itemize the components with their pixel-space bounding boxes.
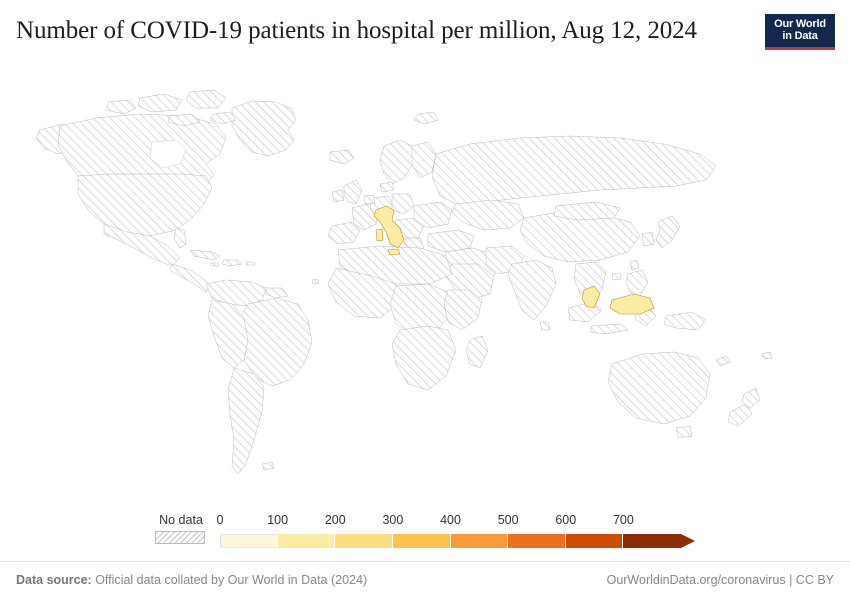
country-uk	[344, 180, 362, 204]
legend-band-0[interactable]	[220, 534, 278, 548]
data-source-text: Official data collated by Our World in D…	[92, 573, 367, 587]
country-spain-portugal	[328, 222, 360, 244]
legend-bar[interactable]	[220, 534, 695, 550]
island-svalbard	[414, 112, 438, 124]
arctic-island-1	[138, 94, 182, 112]
legend-tick-300: 300	[382, 513, 403, 528]
country-australia	[608, 352, 710, 424]
country-norway-sweden	[380, 140, 414, 184]
attribution-link[interactable]: OurWorldinData.org/coronavirus | CC BY	[607, 573, 834, 587]
country-tasmania	[676, 426, 692, 438]
island-taiwan	[630, 260, 639, 270]
arctic-island-3	[106, 100, 136, 114]
country-india	[508, 260, 556, 320]
data-source-label: Data source:	[16, 573, 92, 587]
legend-tick-0: 0	[217, 513, 224, 528]
country-mongolia	[554, 202, 620, 220]
country-italy-sicily	[388, 249, 400, 255]
legend-arrow-icon	[681, 534, 695, 548]
country-new-zealand-south	[728, 404, 752, 426]
country-central-asia	[452, 200, 524, 230]
country-japan	[656, 216, 680, 248]
country-east-africa	[444, 290, 482, 330]
legend-band-3[interactable]	[393, 534, 451, 548]
arctic-island-2	[186, 90, 226, 108]
country-central-africa	[390, 284, 452, 334]
island-hainan	[612, 273, 621, 280]
legend-band-4[interactable]	[451, 534, 509, 548]
country-southern-africa	[392, 326, 456, 390]
legend-color-scale[interactable]: 0100200300400500600700	[220, 513, 695, 553]
map-legend: No data 0100200300400500600700	[0, 505, 850, 561]
country-russia	[432, 136, 716, 204]
legend-band-7[interactable]	[623, 534, 681, 548]
country-greenland	[232, 101, 296, 156]
country-denmark	[380, 182, 394, 192]
country-central-america	[170, 264, 210, 292]
legend-band-1[interactable]	[278, 534, 336, 548]
country-philippines	[626, 270, 648, 296]
owid-logo[interactable]: Our World in Data	[765, 14, 835, 50]
legend-tick-700: 700	[613, 513, 634, 528]
island-new-caledonia	[716, 356, 730, 366]
country-poland	[392, 194, 414, 214]
map-countries-no-data	[36, 90, 772, 474]
island-fiji	[762, 352, 772, 359]
country-papua-new-guinea	[664, 312, 706, 330]
owid-logo-line-1: Our World	[774, 18, 826, 30]
page-title: Number of COVID-19 patients in hospital …	[16, 16, 736, 46]
country-italy-sardinia	[376, 229, 383, 241]
legend-tick-labels: 0100200300400500600700	[220, 513, 695, 529]
country-peru-bolivia	[208, 300, 248, 368]
chart-footer: Data source: Official data collated by O…	[0, 561, 850, 601]
country-benelux	[364, 195, 375, 204]
legend-band-2[interactable]	[335, 534, 393, 548]
legend-tick-400: 400	[440, 513, 461, 528]
island-puerto-rico	[246, 262, 255, 265]
country-sri-lanka	[540, 322, 550, 330]
country-indonesia-java	[590, 324, 628, 334]
legend-tick-200: 200	[325, 513, 346, 528]
island-cuba	[190, 250, 220, 260]
island-jamaica	[210, 263, 219, 266]
country-malaysia-borneo	[610, 294, 654, 314]
island-falklands	[262, 462, 274, 470]
country-argentina-chile	[228, 368, 264, 474]
data-source: Data source: Official data collated by O…	[16, 573, 367, 587]
legend-no-data-swatch[interactable]	[155, 531, 205, 544]
legend-tick-100: 100	[267, 513, 288, 528]
legend-no-data[interactable]: No data	[155, 513, 207, 544]
legend-band-5[interactable]	[508, 534, 566, 548]
chart-header: Number of COVID-19 patients in hospital …	[0, 0, 850, 68]
country-korea	[642, 232, 654, 246]
world-map[interactable]	[0, 68, 850, 500]
world-map-svg[interactable]	[0, 68, 850, 500]
country-guyana	[266, 288, 288, 298]
island-hispaniola	[222, 260, 242, 266]
legend-bands[interactable]	[220, 534, 681, 548]
owid-logo-line-2: in Data	[782, 30, 817, 42]
legend-tick-600: 600	[555, 513, 576, 528]
legend-no-data-label: No data	[155, 513, 207, 527]
country-ireland	[332, 190, 344, 202]
usa-florida	[174, 228, 186, 248]
country-iceland	[330, 150, 354, 164]
legend-tick-500: 500	[498, 513, 519, 528]
country-madagascar	[466, 336, 488, 368]
island-cape-verde	[312, 279, 319, 284]
legend-band-6[interactable]	[566, 534, 624, 548]
country-usa	[78, 174, 212, 236]
country-indonesia-sumatra	[568, 302, 602, 322]
